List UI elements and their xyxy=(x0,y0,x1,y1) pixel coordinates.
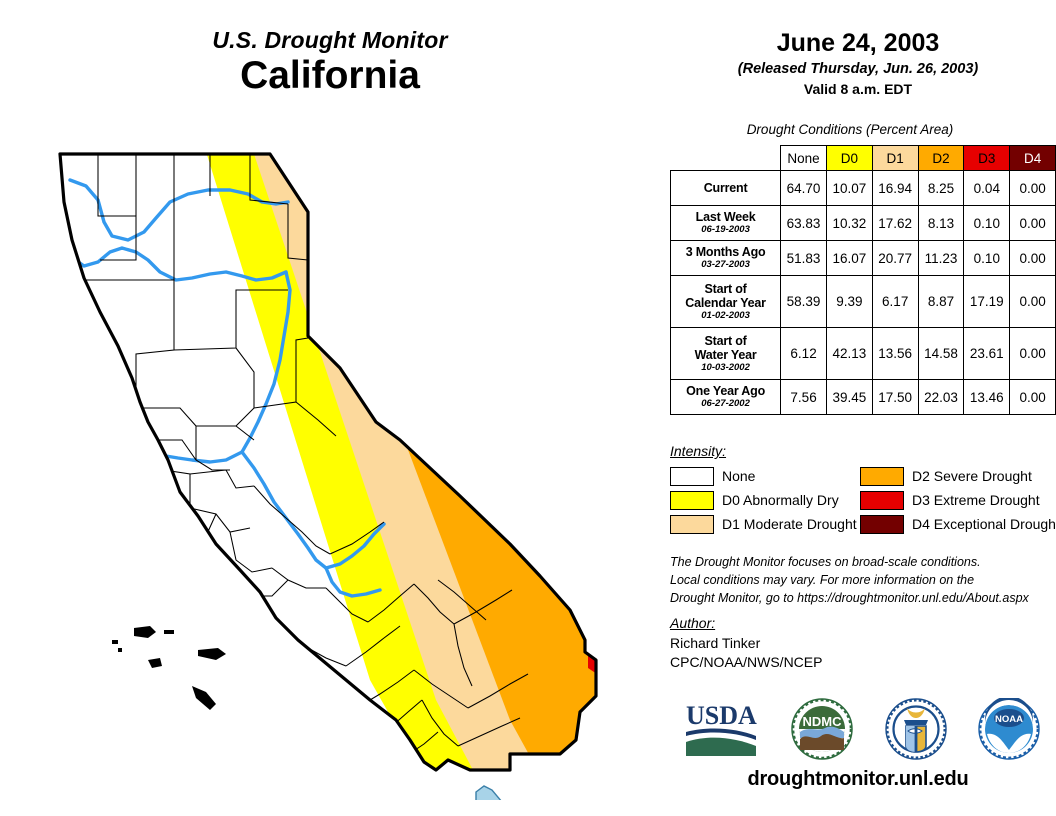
table-cell-d2: 22.03 xyxy=(918,380,964,415)
disclaimer-text: The Drought Monitor focuses on broad-sca… xyxy=(670,554,1056,607)
row-label-date: 06-19-2003 xyxy=(673,225,778,236)
table-cell-d3: 0.10 xyxy=(964,206,1010,241)
table-cell-d3: 0.04 xyxy=(964,171,1010,206)
table-cell-d4: 0.00 xyxy=(1010,206,1056,241)
legend-swatch-d4 xyxy=(860,515,904,534)
table-cell-d4: 0.00 xyxy=(1010,328,1056,380)
row-label: One Year Ago06-27-2002 xyxy=(671,380,781,415)
intensity-heading: Intensity: xyxy=(670,443,1056,459)
noaa-logo-text: NOAA xyxy=(995,714,1023,725)
river-colorado xyxy=(40,378,90,470)
table-cell-d0: 39.45 xyxy=(826,380,872,415)
table-cell-d2: 8.13 xyxy=(918,206,964,241)
row-label-line: Calendar Year xyxy=(673,296,778,310)
table-cell-none: 58.39 xyxy=(781,276,827,328)
table-cell-d1: 17.62 xyxy=(872,206,918,241)
table-cell-d0: 42.13 xyxy=(826,328,872,380)
logo-row: USDA NDMC xyxy=(668,690,1056,768)
table-caption: Drought Conditions (Percent Area) xyxy=(660,122,1040,137)
table-cell-d2: 11.23 xyxy=(918,241,964,276)
row-label-line: Water Year xyxy=(673,348,778,362)
row-label-line: Last Week xyxy=(673,210,778,224)
legend-label-d0: D0 Abnormally Dry xyxy=(722,492,839,508)
legend-swatch-none xyxy=(670,467,714,486)
table-header-row: None D0 D1 D2 D3 D4 xyxy=(671,146,1056,171)
column-header-d4: D4 xyxy=(1010,146,1056,171)
row-label-date: 10-03-2002 xyxy=(673,363,778,374)
table-cell-d0: 10.32 xyxy=(826,206,872,241)
report-date: June 24, 2003 xyxy=(660,30,1056,58)
date-block: June 24, 2003 (Released Thursday, Jun. 2… xyxy=(660,30,1056,97)
disclaimer-line-3: Drought Monitor, go to https://droughtmo… xyxy=(670,590,1056,608)
ndmc-logo-text: NDMC xyxy=(803,714,843,729)
column-header-d2: D2 xyxy=(918,146,964,171)
ndmc-logo[interactable]: NDMC xyxy=(791,698,853,760)
table-row: Start ofWater Year10-03-20026.1242.1313.… xyxy=(671,328,1056,380)
row-label: Start ofCalendar Year01-02-2003 xyxy=(671,276,781,328)
info-panel: June 24, 2003 (Released Thursday, Jun. 2… xyxy=(660,0,1056,816)
table-cell-d1: 20.77 xyxy=(872,241,918,276)
map-svg xyxy=(40,140,640,800)
table-cell-d2: 8.87 xyxy=(918,276,964,328)
usda-logo[interactable]: USDA xyxy=(684,698,760,760)
table-cell-none: 64.70 xyxy=(781,171,827,206)
row-label-date: 06-27-2002 xyxy=(673,399,778,410)
legend-swatch-d3 xyxy=(860,491,904,510)
table-cell-d2: 14.58 xyxy=(918,328,964,380)
valid-time: Valid 8 a.m. EDT xyxy=(660,81,1056,97)
table-cell-d4: 0.00 xyxy=(1010,241,1056,276)
band-d2-ne-sliver xyxy=(292,140,340,200)
table-cell-d0: 10.07 xyxy=(826,171,872,206)
author-name: Richard Tinker xyxy=(670,634,1056,653)
legend-item-d4: D4 Exceptional Drought xyxy=(860,515,1056,534)
column-header-d0: D0 xyxy=(826,146,872,171)
disclaimer-line-2: Local conditions may vary. For more info… xyxy=(670,572,1056,590)
noaa-logo[interactable]: NOAA xyxy=(978,698,1040,760)
table-cell-d3: 13.46 xyxy=(964,380,1010,415)
legend-label-d3: D3 Extreme Drought xyxy=(912,492,1040,508)
corner-blank-cell xyxy=(671,146,781,171)
author-heading: Author: xyxy=(670,615,1056,631)
column-header-d1: D1 xyxy=(872,146,918,171)
legend-item-d1: D1 Moderate Drought xyxy=(670,515,860,534)
table-cell-none: 51.83 xyxy=(781,241,827,276)
release-date: (Released Thursday, Jun. 26, 2003) xyxy=(660,61,1056,77)
usda-logo-text: USDA xyxy=(686,701,757,730)
table-cell-d0: 16.07 xyxy=(826,241,872,276)
table-cell-none: 7.56 xyxy=(781,380,827,415)
table-cell-d1: 17.50 xyxy=(872,380,918,415)
table-cell-d3: 23.61 xyxy=(964,328,1010,380)
legend-item-none: None xyxy=(670,467,860,486)
table-cell-d0: 9.39 xyxy=(826,276,872,328)
table-row: 3 Months Ago03-27-200351.8316.0720.7711.… xyxy=(671,241,1056,276)
california-drought-map[interactable] xyxy=(40,140,640,800)
channel-islands xyxy=(112,626,226,710)
site-url[interactable]: droughtmonitor.unl.edu xyxy=(660,768,1056,791)
table-cell-d1: 6.17 xyxy=(872,276,918,328)
row-label: Current xyxy=(671,171,781,206)
legend-item-d2: D2 Severe Drought xyxy=(860,467,1056,486)
table-cell-d4: 0.00 xyxy=(1010,276,1056,328)
intensity-legend: Intensity: NoneD2 Severe DroughtD0 Abnor… xyxy=(670,443,1056,536)
row-label-line: Start of xyxy=(673,282,778,296)
table-cell-d4: 0.00 xyxy=(1010,380,1056,415)
row-label-date: 03-27-2003 xyxy=(673,260,778,271)
table-row: Last Week06-19-200363.8310.3217.628.130.… xyxy=(671,206,1056,241)
page-title: California xyxy=(0,54,660,98)
table-body: Current64.7010.0716.948.250.040.00Last W… xyxy=(671,171,1056,415)
legend-label-d2: D2 Severe Drought xyxy=(912,468,1032,484)
legend-item-d0: D0 Abnormally Dry xyxy=(670,491,860,510)
legend-grid: NoneD2 Severe DroughtD0 Abnormally DryD3… xyxy=(670,464,1056,536)
table-cell-d4: 0.00 xyxy=(1010,171,1056,206)
column-header-none: None xyxy=(781,146,827,171)
legend-swatch-d1 xyxy=(670,515,714,534)
legend-label-none: None xyxy=(722,468,755,484)
legend-item-d3: D3 Extreme Drought xyxy=(860,491,1056,510)
map-panel: U.S. Drought Monitor California xyxy=(0,0,660,816)
legend-swatch-d0 xyxy=(670,491,714,510)
drought-conditions-table: None D0 D1 D2 D3 D4 Current64.7010.0716.… xyxy=(670,145,1056,415)
usdc-seal[interactable] xyxy=(885,698,947,760)
legend-swatch-d2 xyxy=(860,467,904,486)
disclaimer-line-1: The Drought Monitor focuses on broad-sca… xyxy=(670,554,1056,572)
row-label-line: Current xyxy=(673,181,778,195)
title-block: U.S. Drought Monitor California xyxy=(0,28,660,98)
table-cell-d3: 17.19 xyxy=(964,276,1010,328)
table-header: None D0 D1 D2 D3 D4 xyxy=(671,146,1056,171)
author-block: Author: Richard Tinker CPC/NOAA/NWS/NCEP xyxy=(670,615,1056,672)
table-cell-d1: 16.94 xyxy=(872,171,918,206)
legend-label-d4: D4 Exceptional Drought xyxy=(912,516,1056,532)
program-title: U.S. Drought Monitor xyxy=(0,28,660,52)
table-cell-none: 63.83 xyxy=(781,206,827,241)
table-row: One Year Ago06-27-20027.5639.4517.5022.0… xyxy=(671,380,1056,415)
row-label-line: Start of xyxy=(673,334,778,348)
author-affiliation: CPC/NOAA/NWS/NCEP xyxy=(670,653,1056,672)
row-label-line: 3 Months Ago xyxy=(673,245,778,259)
row-label: 3 Months Ago03-27-2003 xyxy=(671,241,781,276)
table-cell-d3: 0.10 xyxy=(964,241,1010,276)
table-cell-none: 6.12 xyxy=(781,328,827,380)
row-label-line: One Year Ago xyxy=(673,384,778,398)
row-label: Last Week06-19-2003 xyxy=(671,206,781,241)
row-label-date: 01-02-2003 xyxy=(673,311,778,322)
table-row: Start ofCalendar Year01-02-200358.399.39… xyxy=(671,276,1056,328)
table-cell-d1: 13.56 xyxy=(872,328,918,380)
table-cell-d2: 8.25 xyxy=(918,171,964,206)
salton-sea xyxy=(476,786,508,800)
column-header-d3: D3 xyxy=(964,146,1010,171)
legend-label-d1: D1 Moderate Drought xyxy=(722,516,857,532)
row-label: Start ofWater Year10-03-2002 xyxy=(671,328,781,380)
table-row: Current64.7010.0716.948.250.040.00 xyxy=(671,171,1056,206)
